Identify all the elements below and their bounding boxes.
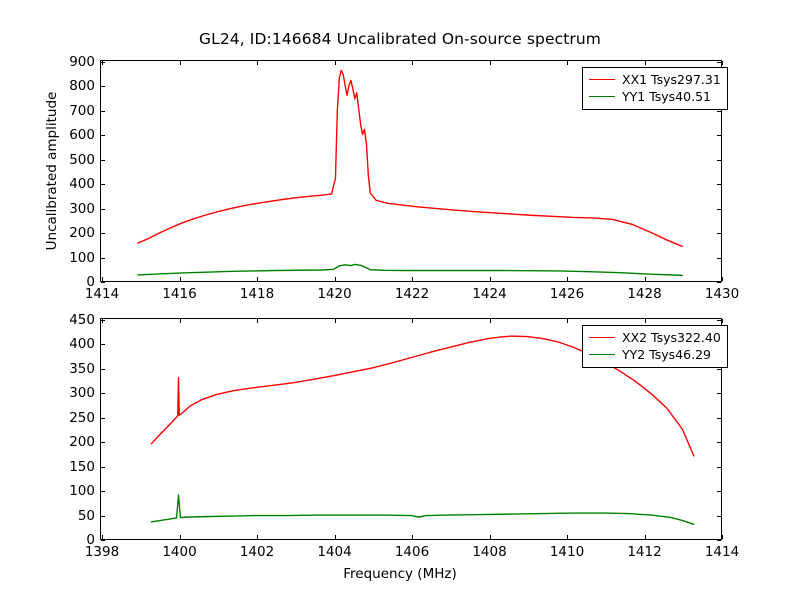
y-tick-mark (101, 442, 105, 443)
data-trace (151, 495, 694, 524)
legend-label: XX2 Tsys322.40 (622, 330, 721, 345)
y-tick-label: 300 (69, 385, 95, 401)
y-tick-mark-right (717, 393, 721, 394)
x-tick-mark-top (567, 61, 568, 65)
x-tick-mark (645, 277, 646, 281)
y-tick-mark (101, 86, 105, 87)
x-tick-mark-top (257, 319, 258, 323)
x-tick-mark (722, 535, 723, 539)
x-tick-label: 1416 (162, 286, 196, 302)
x-tick-label: 1400 (162, 544, 196, 560)
y-tick-mark-right (717, 442, 721, 443)
y-tick-mark (101, 282, 105, 283)
x-tick-mark (645, 535, 646, 539)
y-tick-mark (101, 344, 105, 345)
y-tick-mark-right (717, 135, 721, 136)
x-tick-label: 1408 (472, 544, 506, 560)
y-tick-mark (101, 184, 105, 185)
y-tick-mark-right (717, 209, 721, 210)
y-tick-label: 150 (69, 459, 95, 475)
y-tick-mark (101, 258, 105, 259)
y-tick-mark-right (717, 516, 721, 517)
x-tick-mark-top (722, 319, 723, 323)
y-tick-mark (101, 540, 105, 541)
x-tick-mark-top (645, 61, 646, 65)
y-tick-label: 250 (69, 410, 95, 426)
y-tick-label: 300 (69, 201, 95, 217)
x-tick-label: 1412 (627, 544, 661, 560)
y-tick-label: 50 (78, 508, 95, 524)
x-tick-mark (567, 535, 568, 539)
legend-color-swatch (589, 337, 615, 338)
y-tick-mark-right (717, 540, 721, 541)
x-tick-mark (722, 277, 723, 281)
x-tick-label: 1424 (472, 286, 506, 302)
x-tick-mark (490, 535, 491, 539)
x-axis-label-bottom: Frequency (MHz) (0, 566, 800, 582)
y-tick-mark (101, 135, 105, 136)
x-tick-mark (180, 535, 181, 539)
top-panel-legend: XX1 Tsys297.31YY1 Tsys40.51 (582, 67, 728, 110)
legend-entry: XX1 Tsys297.31 (589, 71, 721, 88)
y-tick-mark-right (717, 160, 721, 161)
y-tick-label: 900 (69, 54, 95, 70)
x-tick-label: 1422 (395, 286, 429, 302)
x-tick-mark-top (567, 319, 568, 323)
x-tick-mark (102, 535, 103, 539)
y-tick-label: 800 (69, 78, 95, 94)
x-tick-mark (257, 535, 258, 539)
x-tick-mark (180, 277, 181, 281)
y-tick-mark (101, 160, 105, 161)
y-tick-label: 450 (69, 312, 95, 328)
y-tick-mark-right (717, 320, 721, 321)
y-tick-label: 600 (69, 127, 95, 143)
x-tick-mark-top (102, 319, 103, 323)
x-tick-mark-top (490, 61, 491, 65)
x-tick-mark-top (102, 61, 103, 65)
x-tick-label: 1404 (317, 544, 351, 560)
page-title: GL24, ID:146684 Uncalibrated On-source s… (0, 30, 800, 48)
y-tick-mark-right (717, 62, 721, 63)
x-tick-label: 1402 (240, 544, 274, 560)
x-tick-mark-top (180, 61, 181, 65)
y-tick-mark-right (717, 184, 721, 185)
x-tick-mark-top (257, 61, 258, 65)
y-tick-mark (101, 491, 105, 492)
y-tick-mark-right (717, 111, 721, 112)
x-tick-mark (412, 535, 413, 539)
y-tick-label: 100 (69, 483, 95, 499)
legend-color-swatch (589, 79, 615, 80)
y-tick-mark-right (717, 467, 721, 468)
y-tick-mark (101, 467, 105, 468)
y-tick-mark-right (717, 491, 721, 492)
y-tick-mark (101, 209, 105, 210)
x-tick-mark (567, 277, 568, 281)
y-tick-label: 100 (69, 250, 95, 266)
legend-entry: YY1 Tsys40.51 (589, 88, 721, 105)
x-tick-label: 1418 (240, 286, 274, 302)
y-tick-mark (101, 393, 105, 394)
y-tick-mark (101, 516, 105, 517)
y-tick-mark-right (717, 369, 721, 370)
x-tick-mark-top (722, 61, 723, 65)
x-tick-mark (412, 277, 413, 281)
y-tick-label: 350 (69, 361, 95, 377)
y-tick-label: 200 (69, 434, 95, 450)
y-tick-mark-right (717, 418, 721, 419)
data-trace (138, 264, 682, 275)
x-tick-label: 1420 (317, 286, 351, 302)
x-tick-mark-top (335, 319, 336, 323)
x-tick-mark-top (645, 319, 646, 323)
x-tick-label: 1430 (705, 286, 739, 302)
y-tick-mark (101, 369, 105, 370)
legend-color-swatch (589, 354, 615, 355)
legend-entry: YY2 Tsys46.29 (589, 346, 721, 363)
y-tick-label: 200 (69, 225, 95, 241)
x-tick-mark-top (412, 319, 413, 323)
x-tick-mark-top (490, 319, 491, 323)
x-tick-mark (257, 277, 258, 281)
legend-entry: XX2 Tsys322.40 (589, 329, 721, 346)
y-tick-label: 700 (69, 103, 95, 119)
y-tick-mark (101, 111, 105, 112)
legend-label: YY1 Tsys40.51 (622, 89, 711, 104)
legend-color-swatch (589, 96, 615, 97)
y-tick-mark-right (717, 258, 721, 259)
x-tick-mark (490, 277, 491, 281)
x-tick-label: 1428 (627, 286, 661, 302)
y-tick-label: 400 (69, 336, 95, 352)
x-tick-mark (335, 277, 336, 281)
x-tick-label: 1414 (705, 544, 739, 560)
x-tick-mark (335, 535, 336, 539)
x-tick-label: 1410 (550, 544, 584, 560)
y-tick-mark (101, 233, 105, 234)
x-tick-mark-top (180, 319, 181, 323)
x-tick-label: 1406 (395, 544, 429, 560)
y-tick-label: 400 (69, 176, 95, 192)
x-tick-label: 1414 (85, 286, 119, 302)
legend-label: YY2 Tsys46.29 (622, 347, 711, 362)
y-tick-mark-right (717, 282, 721, 283)
legend-label: XX1 Tsys297.31 (622, 72, 721, 87)
y-tick-mark (101, 418, 105, 419)
spectrum-figure: GL24, ID:146684 Uncalibrated On-source s… (0, 0, 800, 600)
x-tick-label: 1398 (85, 544, 119, 560)
x-tick-mark (102, 277, 103, 281)
y-tick-label: 500 (69, 152, 95, 168)
y-tick-mark-right (717, 233, 721, 234)
x-tick-mark-top (412, 61, 413, 65)
x-tick-label: 1426 (550, 286, 584, 302)
y-axis-label-top: Uncalibrated amplitude (44, 61, 60, 281)
x-tick-mark-top (335, 61, 336, 65)
bottom-panel-legend: XX2 Tsys322.40YY2 Tsys46.29 (582, 325, 728, 368)
